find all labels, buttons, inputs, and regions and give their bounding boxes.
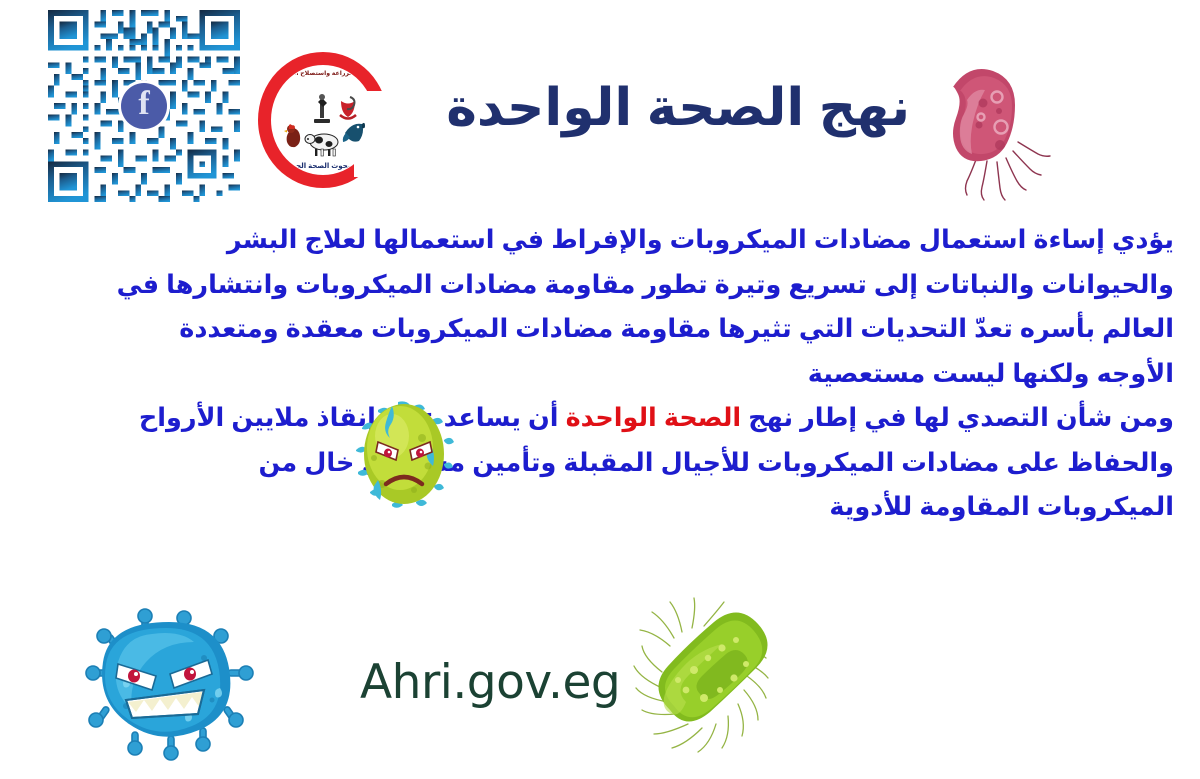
microscope-icon: [310, 94, 334, 124]
paragraph-1: يؤدي إساءة استعمال مضادات الميكروبات وال…: [26, 228, 1174, 387]
paragraph-2-line-3: الميكروبات المقاومة للأدوية: [26, 495, 1174, 521]
logo-inner-disc: وزارة الزراعة واستصلاح الأراضي: [272, 66, 374, 174]
paragraph-2-line-2: والحفاظ على مضادات الميكروبات للأجيال ال…: [26, 451, 1174, 477]
animal-health-research-institute-logo: وزارة الزراعة واستصلاح الأراضي: [258, 52, 388, 188]
angry-blue-virus-illustration: [82, 608, 257, 768]
paragraph-2-line-1-before: ومن شأن التصدي لها في إطار نهج: [741, 404, 1174, 432]
logo-ministry-text: وزارة الزراعة واستصلاح الأراضي: [272, 71, 374, 78]
pink-rod-bacterium-illustration: [905, 45, 1055, 205]
website-url[interactable]: Ahri.gov.eg: [360, 655, 620, 710]
paragraph-2: ومن شأن التصدي لها في إطار نهج الصحة الو…: [26, 406, 1174, 521]
poster-canvas: f وزارة الزراعة واستصلاح الأراضي: [0, 0, 1200, 779]
facebook-qr-code[interactable]: f: [48, 10, 240, 202]
one-health-highlight: الصحة الواحدة: [566, 404, 742, 432]
paragraph-1-line-2: والحيوانات والنباتات إلى تسريع وتيرة تطو…: [26, 273, 1174, 299]
cow-icon: [304, 130, 342, 156]
page-title: نهج الصحة الواحدة: [446, 78, 910, 138]
poster-header: f وزارة الزراعة واستصلاح الأراضي: [0, 0, 1200, 205]
facebook-icon: f: [121, 83, 167, 129]
logo-artwork: [272, 94, 374, 156]
rooster-icon: [282, 122, 304, 148]
fish-icon: [342, 120, 366, 146]
logo-institute-text: معهد بحوث الصحة الحيوانية: [272, 163, 374, 170]
angry-green-germ-illustration: [348, 398, 460, 510]
green-rod-bacterium-illustration: [612, 598, 797, 773]
poster-body: يؤدي إساءة استعمال مضادات الميكروبات وال…: [0, 228, 1200, 540]
facebook-glyph: f: [138, 87, 149, 121]
paragraph-2-line-1: ومن شأن التصدي لها في إطار نهج الصحة الو…: [26, 406, 1174, 432]
paragraph-1-line-3: العالم بأسره تعدّ التحديات التي تثيرها م…: [26, 317, 1174, 343]
paragraph-1-line-4: الأوجه ولكنها ليست مستعصية: [26, 362, 1174, 388]
paragraph-1-line-1: يؤدي إساءة استعمال مضادات الميكروبات وال…: [26, 228, 1174, 254]
